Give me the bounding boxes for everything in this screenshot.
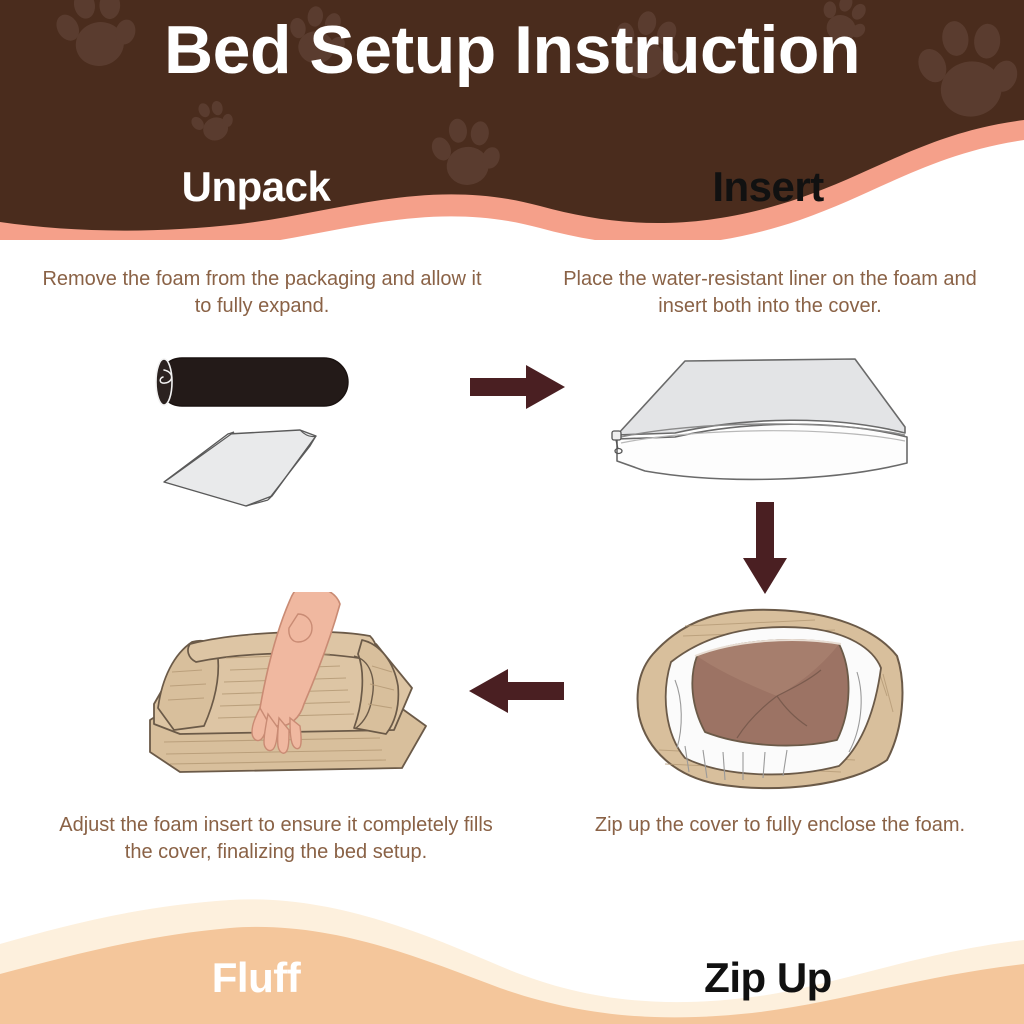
- step-heading-zip-up: Zip Up: [512, 954, 1024, 1002]
- illustration-rolled-foam-and-liner: [150, 350, 450, 520]
- arrow-left-icon: [466, 666, 566, 716]
- step-heading-insert: Insert: [512, 163, 1024, 211]
- page-title: Bed Setup Instruction: [0, 16, 1024, 84]
- step-heading-unpack: Unpack: [0, 163, 512, 211]
- caption-insert: Place the water-resistant liner on the f…: [540, 266, 1000, 320]
- caption-unpack: Remove the foam from the packaging and a…: [32, 266, 492, 320]
- illustration-cover-with-zipper: [605, 355, 935, 490]
- step-heading-fluff: Fluff: [0, 954, 512, 1002]
- illustration-hand-fluffing-bed: [140, 592, 440, 802]
- caption-zip-up: Zip up the cover to fully enclose the fo…: [560, 812, 1000, 839]
- instruction-infographic: Bed Setup Instruction Unpack Insert Remo…: [0, 0, 1024, 1024]
- folded-liner-icon: [164, 430, 316, 506]
- arrow-down-icon: [740, 500, 790, 596]
- illustration-open-cover-with-insert: [625, 600, 915, 800]
- arrow-right-icon: [468, 362, 568, 412]
- caption-fluff: Adjust the foam insert to ensure it comp…: [56, 812, 496, 866]
- rolled-foam-icon: [156, 358, 348, 406]
- footer-banner: Fluff Zip Up: [0, 884, 1024, 1024]
